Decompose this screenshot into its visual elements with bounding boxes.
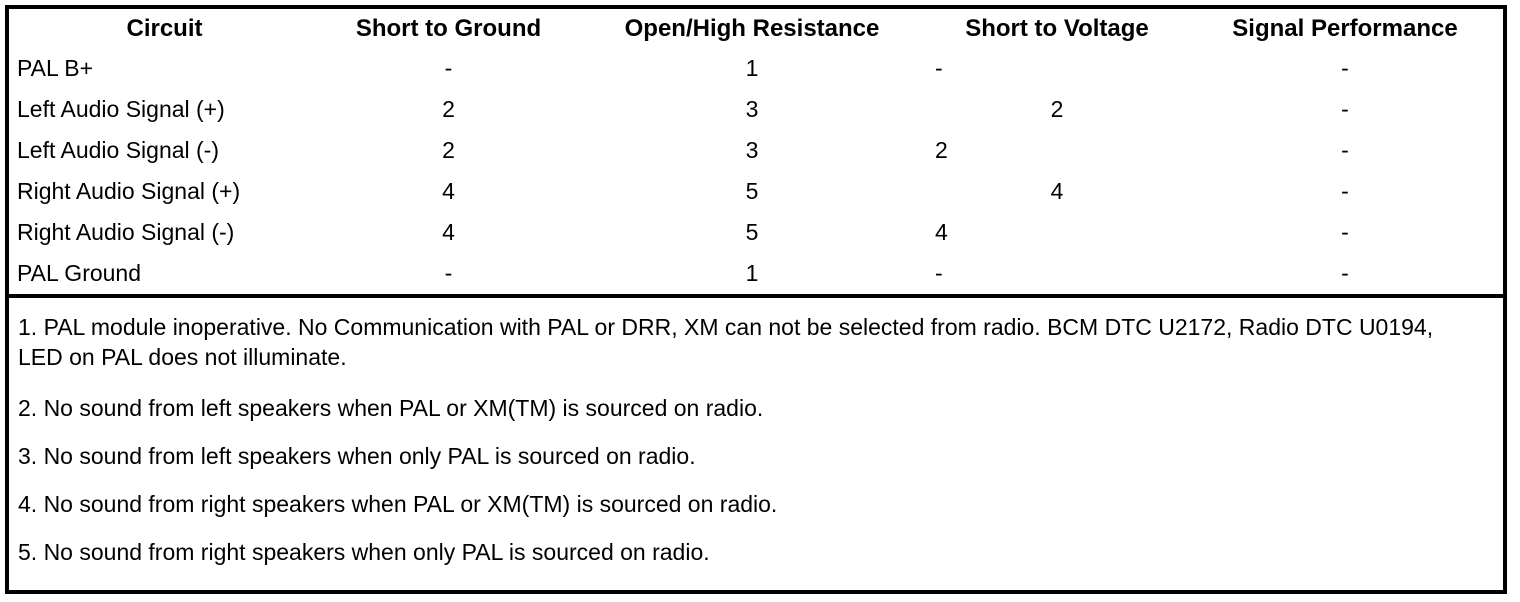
cell-circuit: PAL Ground <box>9 253 320 296</box>
cell-short-to-ground: - <box>320 253 577 296</box>
cell-open-high-resistance: 1 <box>577 253 927 296</box>
table-header-row: Circuit Short to Ground Open/High Resist… <box>9 9 1503 48</box>
cell-short-to-voltage: 4 <box>927 212 1187 253</box>
cell-open-high-resistance: 5 <box>577 171 927 212</box>
column-header-open-high-resistance: Open/High Resistance <box>577 9 927 48</box>
circuit-fault-table: Circuit Short to Ground Open/High Resist… <box>9 9 1503 298</box>
cell-circuit: Right Audio Signal (-) <box>9 212 320 253</box>
footnote-item: 4. No sound from right speakers when PAL… <box>18 489 1448 519</box>
cell-circuit: Left Audio Signal (-) <box>9 130 320 171</box>
table-row: PAL Ground - 1 - - <box>9 253 1503 296</box>
page-root: Circuit Short to Ground Open/High Resist… <box>0 0 1520 602</box>
diagnostic-table: Circuit Short to Ground Open/High Resist… <box>5 5 1507 594</box>
column-header-short-to-ground: Short to Ground <box>320 9 577 48</box>
cell-short-to-voltage: - <box>927 48 1187 89</box>
cell-circuit: Left Audio Signal (+) <box>9 89 320 130</box>
cell-short-to-ground: 4 <box>320 212 577 253</box>
cell-short-to-voltage: 2 <box>927 130 1187 171</box>
cell-open-high-resistance: 3 <box>577 89 927 130</box>
cell-short-to-voltage: - <box>927 253 1187 296</box>
cell-short-to-ground: 4 <box>320 171 577 212</box>
cell-circuit: PAL B+ <box>9 48 320 89</box>
cell-signal-performance: - <box>1187 253 1503 296</box>
cell-signal-performance: - <box>1187 212 1503 253</box>
cell-short-to-ground: - <box>320 48 577 89</box>
footnote-item: 5. No sound from right speakers when onl… <box>18 537 1448 567</box>
table-row: Right Audio Signal (-) 4 5 4 - <box>9 212 1503 253</box>
cell-short-to-ground: 2 <box>320 130 577 171</box>
table-row: Left Audio Signal (+) 2 3 2 - <box>9 89 1503 130</box>
column-header-signal-performance: Signal Performance <box>1187 9 1503 48</box>
cell-signal-performance: - <box>1187 89 1503 130</box>
cell-open-high-resistance: 5 <box>577 212 927 253</box>
cell-short-to-voltage: 2 <box>927 89 1187 130</box>
cell-signal-performance: - <box>1187 130 1503 171</box>
footnote-item: 2. No sound from left speakers when PAL … <box>18 393 1448 423</box>
table-row: Right Audio Signal (+) 4 5 4 - <box>9 171 1503 212</box>
cell-short-to-voltage: 4 <box>927 171 1187 212</box>
cell-open-high-resistance: 3 <box>577 130 927 171</box>
table-row: Left Audio Signal (-) 2 3 2 - <box>9 130 1503 171</box>
footnote-item: 3. No sound from left speakers when only… <box>18 441 1448 471</box>
footnote-item: 1. PAL module inoperative. No Communicat… <box>18 312 1448 372</box>
table-row: PAL B+ - 1 - - <box>9 48 1503 89</box>
cell-signal-performance: - <box>1187 171 1503 212</box>
cell-circuit: Right Audio Signal (+) <box>9 171 320 212</box>
column-header-short-to-voltage: Short to Voltage <box>927 9 1187 48</box>
footnotes-section: 1. PAL module inoperative. No Communicat… <box>9 302 1503 590</box>
column-header-circuit: Circuit <box>9 9 320 48</box>
cell-open-high-resistance: 1 <box>577 48 927 89</box>
cell-signal-performance: - <box>1187 48 1503 89</box>
cell-short-to-ground: 2 <box>320 89 577 130</box>
